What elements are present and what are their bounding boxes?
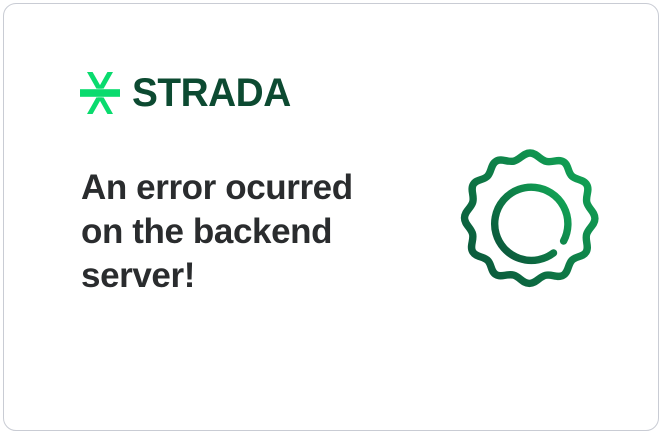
brand-wordmark: STRADA [132,73,291,113]
strada-asterisk-icon [80,72,120,114]
brand-lockup: STRADA [80,72,296,114]
error-card: STRADA An error ocurred on the backend s… [3,3,659,431]
error-headline: An error ocurred on the backend server! [81,166,381,298]
